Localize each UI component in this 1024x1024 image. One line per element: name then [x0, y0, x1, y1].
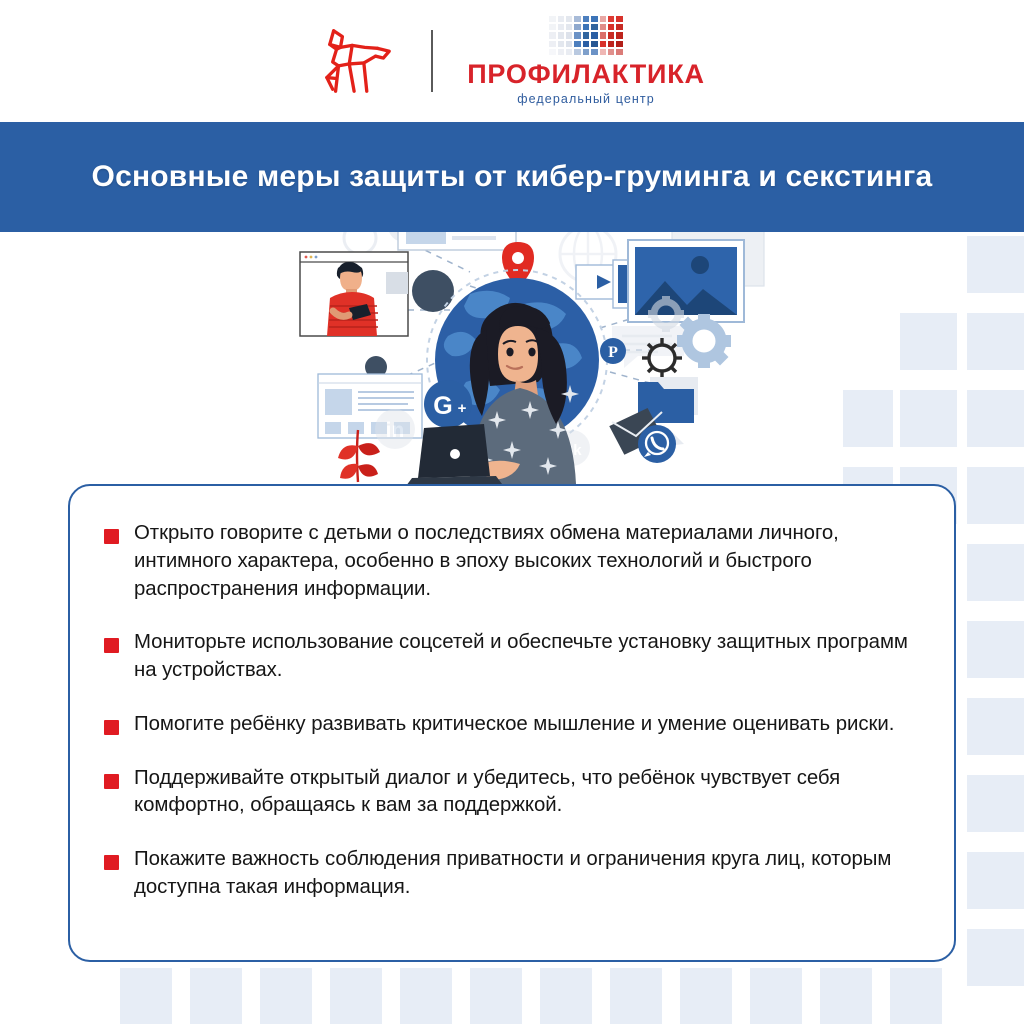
google-plus-icon: G + — [424, 380, 472, 428]
tip-text: Покажите важность соблюдения приватности… — [134, 846, 914, 902]
logo-bar: ПРОФИЛАКТИКА федеральный центр — [0, 0, 1024, 122]
bullet-marker-icon — [104, 638, 119, 653]
list-item: Открыто говорите с детьми о последствиях… — [104, 520, 914, 603]
list-item: Покажите важность соблюдения приватности… — [104, 846, 914, 902]
tip-text: Поддерживайте открытый диалог и убедитес… — [134, 765, 914, 821]
browser-window-with-man-icon — [300, 252, 408, 336]
title-banner: Основные меры защиты от кибер-груминга и… — [0, 122, 1024, 232]
tips-card: Открыто говорите с детьми о последствиях… — [68, 484, 956, 962]
webpage-card-icon — [398, 232, 516, 250]
tip-text: Помогите ребёнку развивать критическое м… — [134, 711, 894, 739]
list-item: Поддерживайте открытый диалог и убедитес… — [104, 765, 914, 821]
tip-text: Мониторьте использование соцсетей и обес… — [134, 629, 914, 685]
svg-text:+: + — [458, 400, 467, 417]
brand-name: ПРОФИЛАКТИКА — [467, 61, 705, 88]
square-grid-flag-icon — [549, 16, 623, 56]
bullet-marker-icon — [104, 720, 119, 735]
gear-icon — [642, 338, 682, 378]
pinterest-icon: P — [600, 338, 626, 364]
page-title: Основные меры защиты от кибер-груминга и… — [92, 158, 933, 196]
list-item: Мониторьте использование соцсетей и обес… — [104, 629, 914, 685]
bullet-marker-icon — [104, 529, 119, 544]
dot-icon — [412, 270, 454, 312]
bullet-marker-icon — [104, 855, 119, 870]
logo-divider — [431, 30, 433, 92]
svg-text:in: in — [386, 419, 405, 442]
tip-text: Открыто говорите с детьми о последствиях… — [134, 520, 914, 603]
bullet-marker-icon — [104, 774, 119, 789]
linkedin-icon: in — [375, 409, 415, 449]
list-item: Помогите ребёнку развивать критическое м… — [104, 711, 914, 739]
svg-text:G: G — [433, 392, 452, 420]
brand-subtitle: федеральный центр — [517, 92, 655, 106]
hero-illustration: in — [0, 232, 1024, 484]
whatsapp-icon — [638, 425, 676, 463]
deer-line-mark-icon — [319, 23, 397, 99]
brand-block: ПРОФИЛАКТИКА федеральный центр — [467, 16, 705, 107]
svg-text:P: P — [608, 344, 618, 361]
